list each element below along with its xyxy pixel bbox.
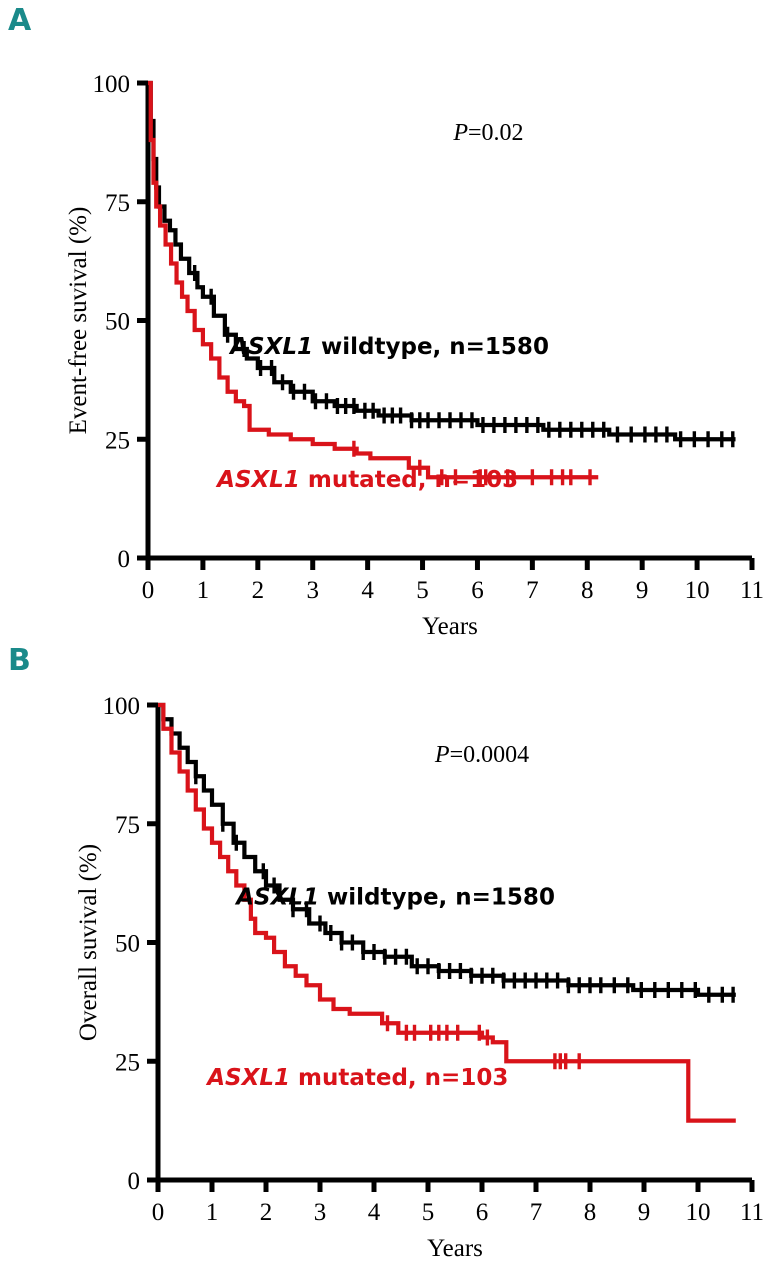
y-tick-label: 100 xyxy=(93,71,131,98)
x-tick-label: 10 xyxy=(686,1199,711,1226)
x-tick-label: 4 xyxy=(368,1199,381,1226)
x-tick-label: 0 xyxy=(152,1199,165,1226)
x-tick-label: 9 xyxy=(636,577,649,604)
x-tick-label: 7 xyxy=(526,577,539,604)
y-tick-label: 100 xyxy=(103,693,141,720)
y-tick-label: 50 xyxy=(115,931,140,958)
y-tick-label: 25 xyxy=(115,1049,140,1076)
x-axis-title: Years xyxy=(422,613,478,640)
p-value-annotation: P=0.02 xyxy=(452,120,523,146)
x-tick-label: 1 xyxy=(206,1199,219,1226)
survival-curves-figure: A 025507510001234567891011YearsEvent-fre… xyxy=(0,0,768,1280)
p-value-annotation: P=0.0004 xyxy=(434,742,529,768)
x-tick-label: 8 xyxy=(581,577,594,604)
y-axis-title: Event-free suvival (%) xyxy=(65,207,92,435)
mutated-curve-label: ASXL1 mutated, n=103 xyxy=(215,467,518,493)
survival-curve xyxy=(148,83,736,439)
y-tick-label: 75 xyxy=(105,190,130,217)
panel-a: A 025507510001234567891011YearsEvent-fre… xyxy=(0,0,768,640)
x-tick-label: 2 xyxy=(260,1199,273,1226)
x-tick-label: 3 xyxy=(306,577,319,604)
x-tick-label: 8 xyxy=(584,1199,597,1226)
x-tick-label: 2 xyxy=(252,577,265,604)
x-tick-label: 10 xyxy=(685,577,710,604)
x-tick-label: 5 xyxy=(416,577,429,604)
x-tick-label: 11 xyxy=(740,577,764,604)
x-tick-label: 3 xyxy=(314,1199,327,1226)
panel-a-plot: 025507510001234567891011YearsEvent-free … xyxy=(0,0,768,640)
mutated-curve-label: ASXL1 mutated, n=103 xyxy=(205,1065,508,1091)
y-tick-label: 75 xyxy=(115,812,140,839)
x-tick-label: 1 xyxy=(197,577,210,604)
x-axis-title: Years xyxy=(427,1235,483,1262)
x-tick-label: 7 xyxy=(530,1199,543,1226)
wildtype-curve-label: ASXL1 wildtype, n=1580 xyxy=(228,334,549,360)
panel-b: B 025507510001234567891011YearsOverall s… xyxy=(0,640,768,1280)
x-tick-label: 6 xyxy=(471,577,484,604)
x-tick-label: 5 xyxy=(422,1199,435,1226)
x-tick-label: 0 xyxy=(142,577,155,604)
panel-b-plot: 025507510001234567891011YearsOverall suv… xyxy=(0,640,768,1280)
x-tick-label: 9 xyxy=(638,1199,651,1226)
y-tick-label: 50 xyxy=(105,309,130,336)
x-tick-label: 11 xyxy=(740,1199,764,1226)
y-tick-label: 25 xyxy=(105,427,130,454)
y-tick-label: 0 xyxy=(128,1168,141,1195)
y-axis-title: Overall suvival (%) xyxy=(75,844,102,1041)
x-tick-label: 4 xyxy=(361,577,374,604)
y-tick-label: 0 xyxy=(118,546,131,573)
x-tick-label: 6 xyxy=(476,1199,489,1226)
wildtype-curve-label: ASXL1 wildtype, n=1580 xyxy=(234,885,555,911)
